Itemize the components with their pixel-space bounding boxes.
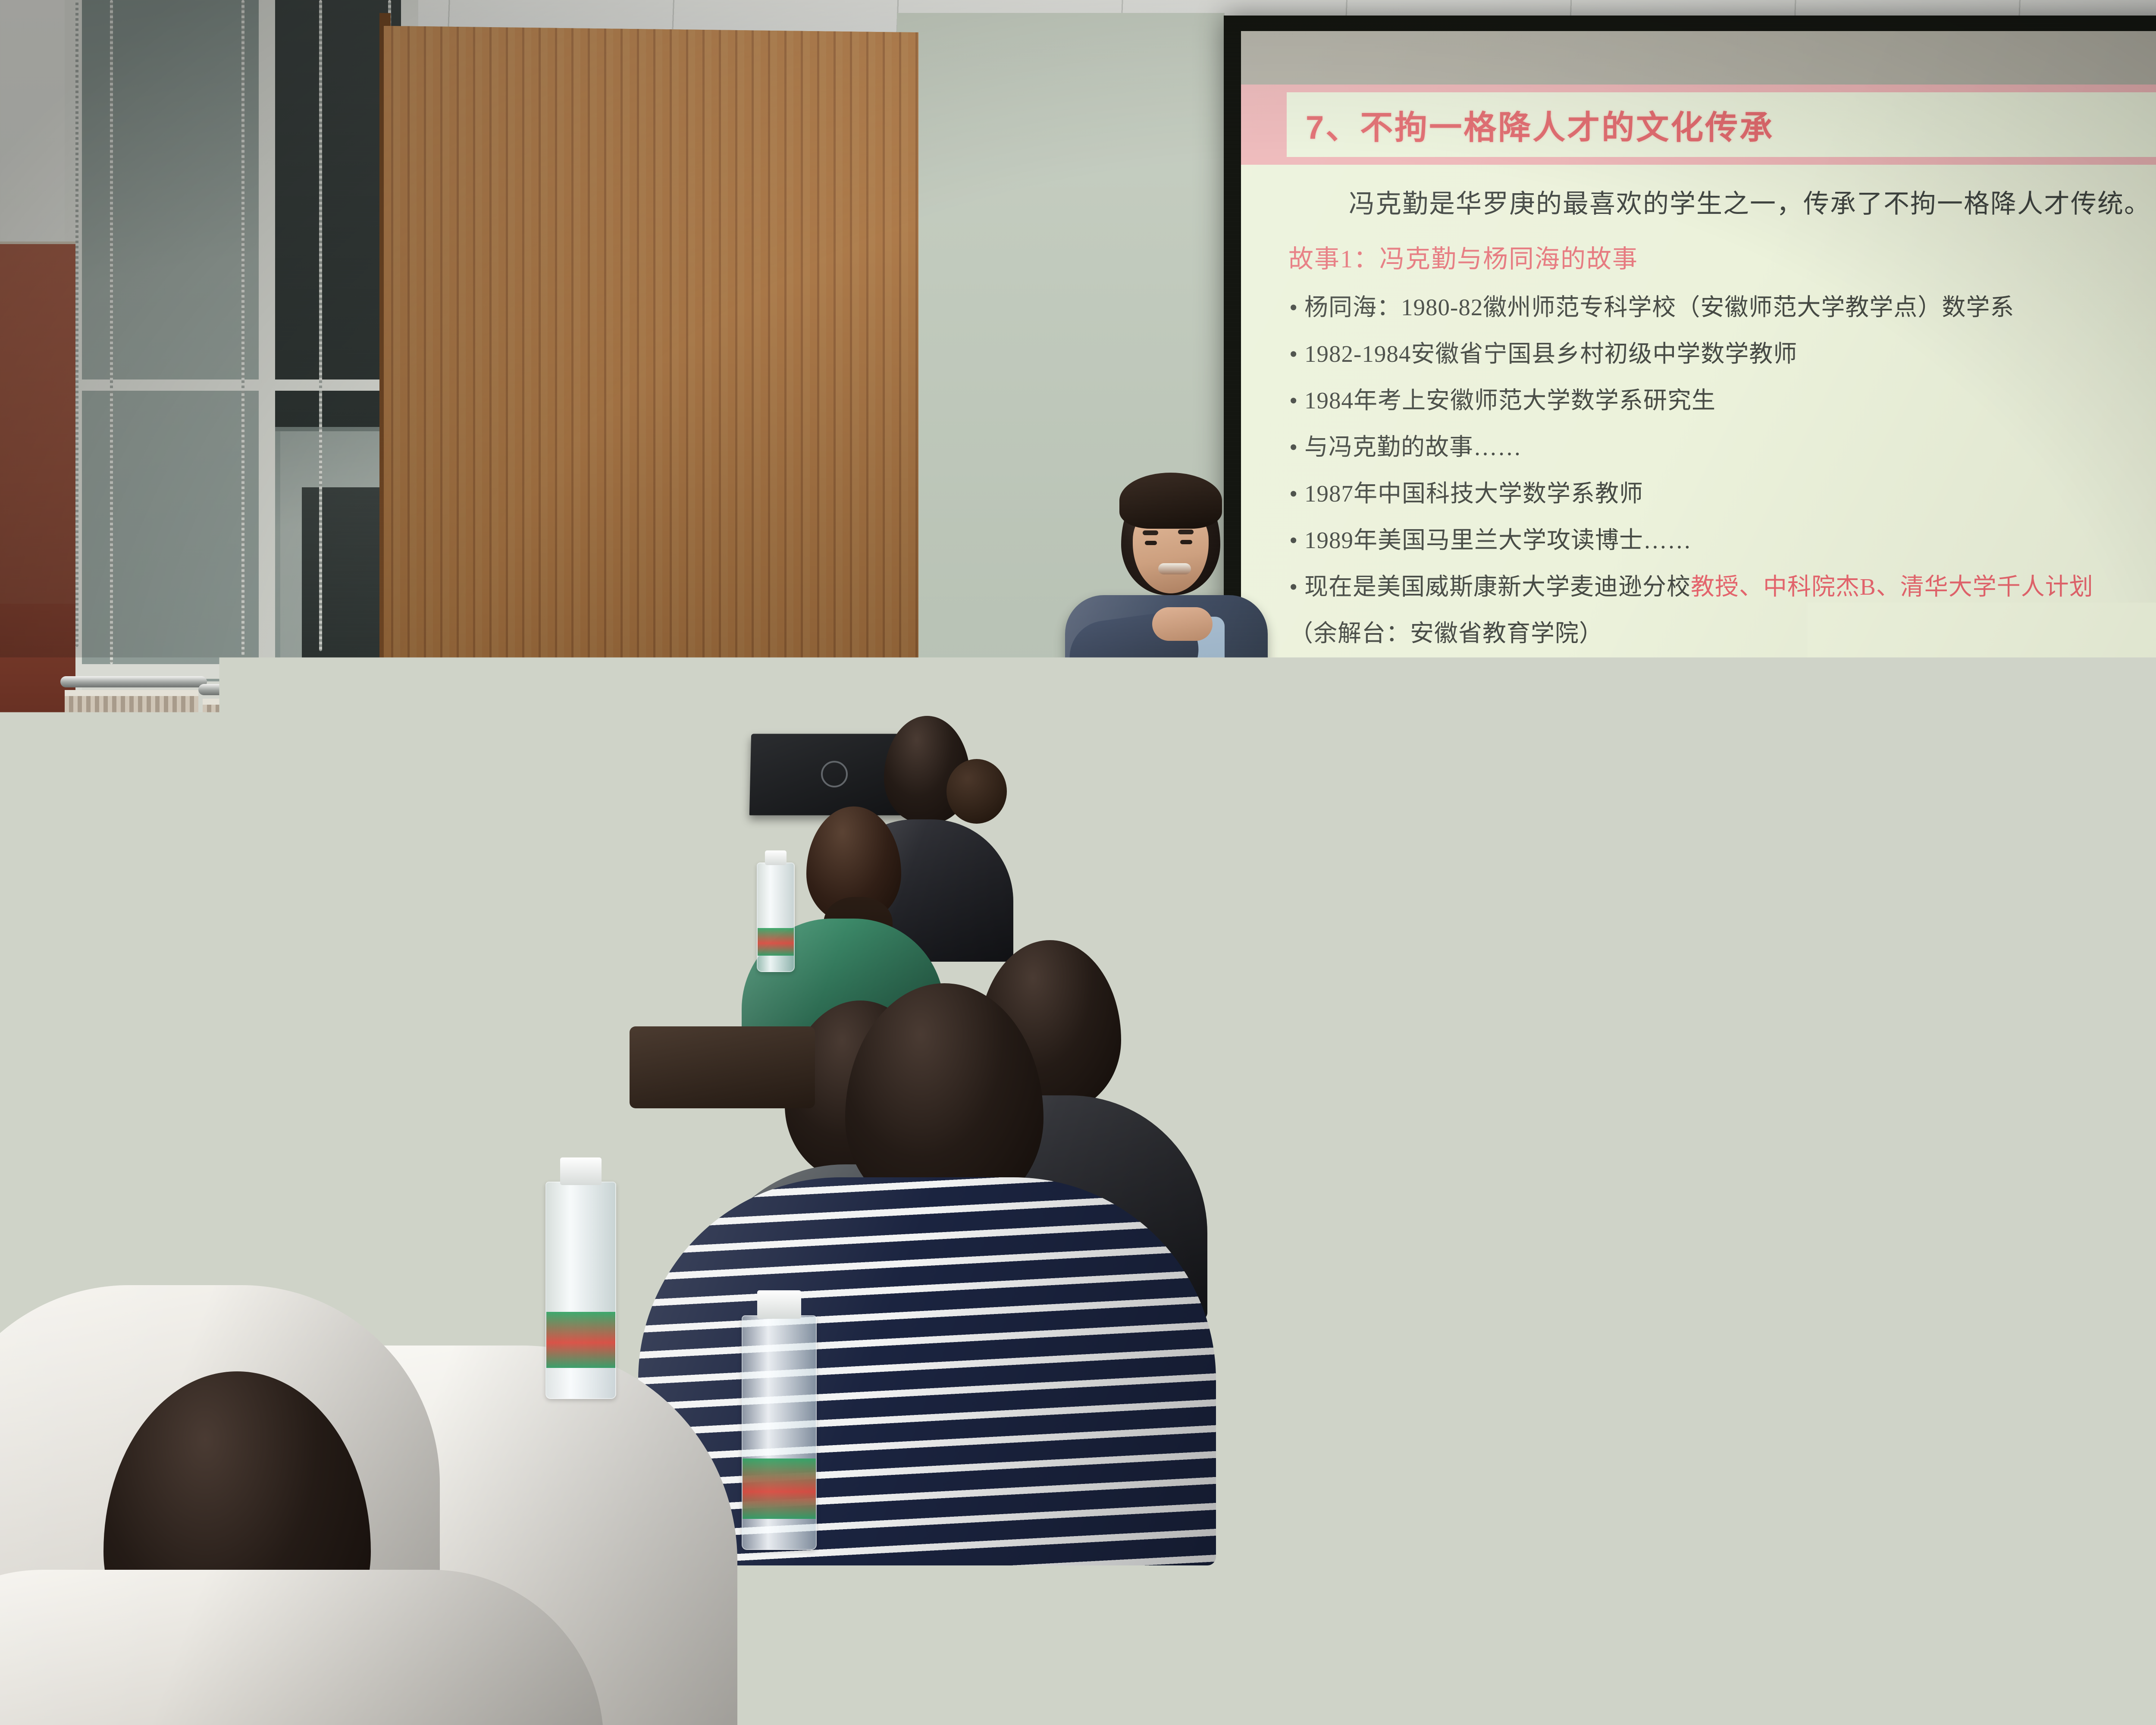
window-mullion xyxy=(259,0,275,699)
window-shadow xyxy=(302,487,379,668)
slide-bullet: 与冯克勤的故事…… xyxy=(1289,427,2156,462)
classroom-photo: 7、不拘一格降人才的文化传承 合肥工业大学 HEFEI UNIVERSITY O… xyxy=(0,0,2156,1725)
eyebrow xyxy=(1178,530,1194,534)
slide-lead-text: 冯克勤是华罗庚的最喜欢的学生之一，传承了不拘一格降人才传统。 xyxy=(1349,183,2156,220)
blind-cord[interactable] xyxy=(75,0,78,647)
hair-bun xyxy=(946,759,1007,824)
handbag[interactable] xyxy=(630,1026,815,1108)
glasses xyxy=(1883,811,1935,844)
water-bottle[interactable] xyxy=(545,1182,616,1399)
presenter-hair xyxy=(1119,473,1222,529)
water-bottle[interactable] xyxy=(1384,880,1422,989)
slide-bullet: 1984年考上安徽师范大学数学系研究生 xyxy=(1289,381,2156,415)
shirt-button xyxy=(1188,755,1197,764)
audience-head xyxy=(341,931,487,1108)
slide-body: 冯克勤是华罗庚的最喜欢的学生之一，传承了不拘一格降人才传统。 故事1：冯克勤与杨… xyxy=(1241,166,2156,731)
projection-screen: 7、不拘一格降人才的文化传承 合肥工业大学 HEFEI UNIVERSITY O… xyxy=(1241,31,2156,797)
audience-body-foreground xyxy=(0,1570,604,1725)
slide-story-heading: 故事1：冯克勤与杨同海的故事 xyxy=(1288,238,2156,275)
zipper xyxy=(579,988,586,1070)
red-thermos[interactable] xyxy=(1488,1048,1574,1264)
slide-title: 7、不拘一格降人才的文化传承 xyxy=(1306,101,1774,148)
slide-bullet-list: 杨同海：1980-82徽州师范专科学校（安徽师范大学教学点）数学系 1982-1… xyxy=(1289,288,2156,648)
dell-logo-icon xyxy=(821,761,848,787)
face-mask-worn xyxy=(607,845,659,887)
slide-top-band xyxy=(1241,31,2156,85)
mouth-smiling xyxy=(1158,563,1191,574)
slide-bullet: 杨同海：1980-82徽州师范专科学校（安徽师范大学教学点）数学系 xyxy=(1289,288,2156,322)
face-mask-worn xyxy=(594,776,636,810)
audience-body xyxy=(1207,1164,1535,1406)
water-bottle[interactable] xyxy=(1031,871,1069,983)
water-bottle[interactable] xyxy=(742,1315,817,1550)
audience-body-teal-polo xyxy=(1643,1246,2083,1609)
slide-bullet-note: （余解台：安徽省教育学院） xyxy=(1289,614,2156,648)
water-bottle[interactable] xyxy=(757,862,795,972)
water-bottle[interactable] xyxy=(533,931,577,1063)
slide-title-box: 7、不拘一格降人才的文化传承 合肥工业大学 HEFEI UNIVERSITY O… xyxy=(1287,92,2156,157)
bullet-text: 现在是美国威斯康新大学麦迪逊分校 xyxy=(1304,574,1691,600)
bullet-highlight: 教授、中科院杰B、清华大学千人计划 xyxy=(1691,574,2093,600)
belt-buckle xyxy=(1175,803,1206,818)
wall-panel-left-lower xyxy=(0,604,75,776)
slide-bullet: 1987年中国科技大学数学系教师 xyxy=(1289,474,2156,508)
eye xyxy=(1145,541,1157,545)
radiator xyxy=(65,690,198,830)
slide-bullet: 1982-1984安徽省宁国县乡村初级中学数学教师 xyxy=(1289,334,2156,369)
presenter-hand xyxy=(1152,607,1213,641)
water-bottle[interactable] xyxy=(2065,1057,2115,1201)
slide-bullet: 1989年美国马里兰大学攻读博士…… xyxy=(1289,521,2156,555)
eye xyxy=(1180,540,1192,544)
blind-cord[interactable] xyxy=(319,0,322,651)
window-pane xyxy=(78,0,280,681)
window-rail xyxy=(60,676,207,687)
water-bottle[interactable] xyxy=(1263,1169,1326,1360)
presentation-remote[interactable] xyxy=(1221,781,1263,796)
slide: 7、不拘一格降人才的文化传承 合肥工业大学 HEFEI UNIVERSITY O… xyxy=(1241,31,2156,797)
slide-bullet-highlighted: 现在是美国威斯康新大学麦迪逊分校教授、中科院杰B、清华大学千人计划 xyxy=(1289,567,2156,602)
shirt-button xyxy=(1188,707,1197,717)
eyebrow xyxy=(1143,530,1158,535)
water-bottle[interactable] xyxy=(1255,888,1295,1007)
blind-cord[interactable] xyxy=(241,0,244,655)
thermos-cap[interactable] xyxy=(1483,1035,1578,1074)
blind-cord[interactable] xyxy=(110,0,113,664)
